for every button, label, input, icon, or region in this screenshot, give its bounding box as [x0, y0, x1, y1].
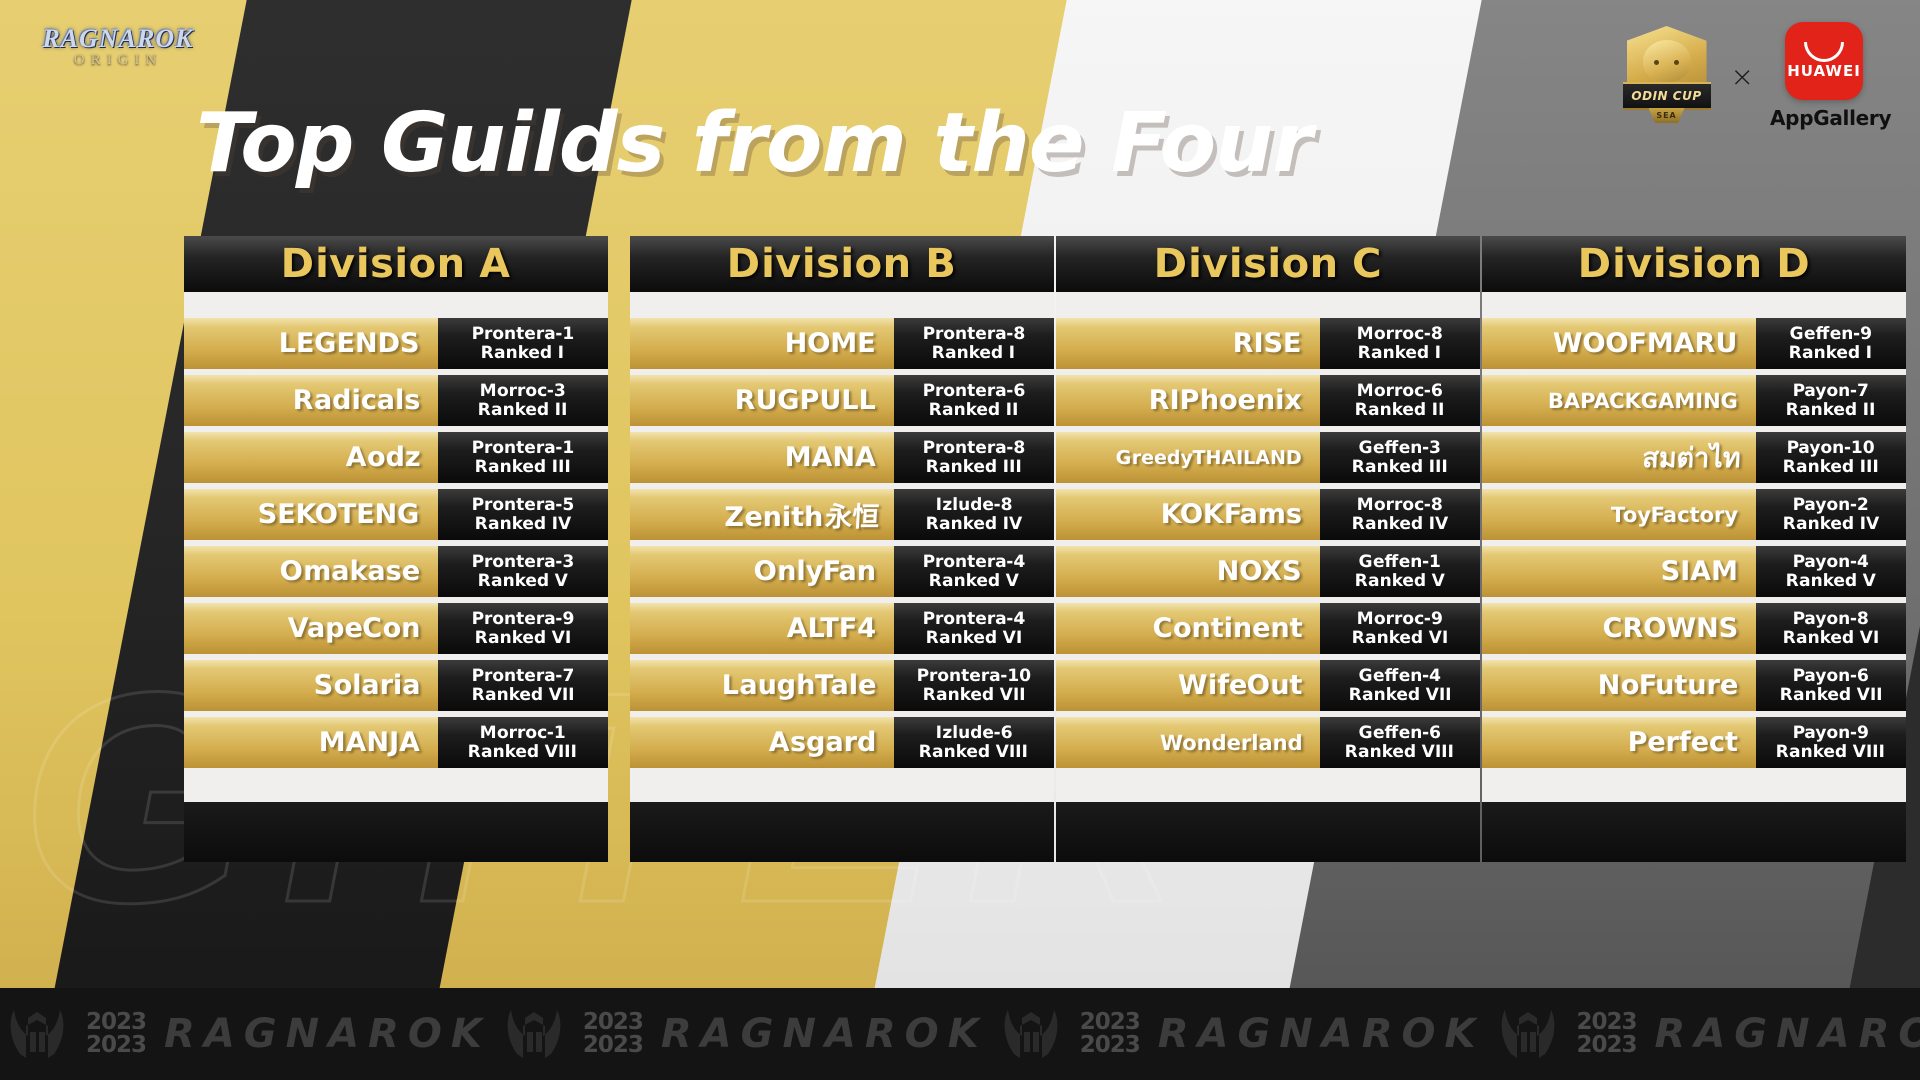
guild-name-label: ALTF4 — [784, 613, 879, 644]
guild-row: MANJAMorroc-1Ranked VIII — [184, 717, 608, 768]
guild-row: NoFuturePayon-6Ranked VII — [1482, 660, 1906, 711]
guild-name-label: NoFuture — [1595, 670, 1741, 701]
guild-row: LEGENDSProntera-1Ranked I — [184, 318, 608, 369]
guild-name-label: Aodz — [342, 442, 423, 473]
guild-rank-label: Ranked I — [931, 344, 1018, 362]
divisions-container: Division A LEGENDSProntera-1Ranked IRadi… — [0, 236, 1920, 886]
division-c-tail — [1056, 802, 1480, 862]
guild-name-label: WOOFMARU — [1550, 328, 1741, 359]
guild-row: AsgardIzlude-6Ranked VIII — [630, 717, 1054, 768]
guild-server-label: Payon-4 — [1791, 553, 1871, 571]
guild-rank-label: Ranked VIII — [1344, 743, 1457, 761]
footer-unit: 20232023RAGNAROK — [497, 1006, 994, 1062]
guild-name-label: Asgard — [766, 727, 879, 758]
footer-years: 20232023 — [86, 1011, 146, 1057]
guild-name-label: RIPhoenix — [1146, 385, 1305, 416]
guild-rank-label: Ranked VII — [1778, 686, 1884, 704]
guild-name-label: OnlyFan — [751, 556, 879, 587]
guild-server-label: Morroc-6 — [1355, 382, 1445, 400]
guild-info-cell: Payon-9Ranked VIII — [1756, 717, 1906, 768]
guild-rank-label: Ranked III — [473, 458, 573, 476]
guild-rank-label: Ranked II — [1353, 401, 1446, 419]
footer-wordmark: RAGNAROK — [164, 1011, 491, 1057]
guild-row: AodzProntera-1Ranked III — [184, 432, 608, 483]
guild-server-label: Prontera-8 — [921, 325, 1027, 343]
guild-name-label: Continent — [1150, 613, 1305, 644]
guild-row: RISEMorroc-8Ranked I — [1056, 318, 1480, 369]
guild-row: WOOFMARUGeffen-9Ranked I — [1482, 318, 1906, 369]
guild-server-label: Payon-7 — [1791, 382, 1871, 400]
appgallery-label: AppGallery — [1770, 106, 1878, 130]
guild-rank-label: Ranked I — [1357, 344, 1444, 362]
guild-info-cell: Prontera-8Ranked I — [894, 318, 1054, 369]
footer-wordmark: RAGNAROK — [1655, 1011, 1920, 1057]
guild-row: WifeOutGeffen-4Ranked VII — [1056, 660, 1480, 711]
guild-server-label: Payon-8 — [1791, 610, 1871, 628]
guild-server-label: Prontera-7 — [470, 667, 576, 685]
ragnarok-helmet-icon — [1000, 1006, 1062, 1062]
guild-server-label: Geffen-1 — [1357, 553, 1443, 571]
guild-name-cell: ToyFactory — [1482, 489, 1756, 540]
division-a-rows: LEGENDSProntera-1Ranked IRadicalsMorroc-… — [184, 318, 608, 768]
guild-name-label: GreedyTHAILAND — [1114, 447, 1304, 469]
guild-info-cell: Geffen-1Ranked V — [1320, 546, 1480, 597]
guild-rank-label: Ranked II — [476, 401, 569, 419]
guild-rank-label: Ranked VIII — [467, 743, 580, 761]
footer-year-top: 2023 — [1080, 1011, 1140, 1034]
division-d-header: Division D — [1482, 236, 1906, 292]
guild-name-cell: WOOFMARU — [1482, 318, 1756, 369]
guild-server-label: Prontera-5 — [470, 496, 576, 514]
guild-name-cell: MANA — [630, 432, 894, 483]
guild-rank-label: Ranked VI — [1781, 629, 1881, 647]
guild-row: MANAProntera-8Ranked III — [630, 432, 1054, 483]
division-c-inner: Division C RISEMorroc-8Ranked IRIPhoenix… — [1056, 236, 1480, 862]
guild-info-cell: Prontera-5Ranked IV — [438, 489, 608, 540]
guild-row: SIAMPayon-4Ranked V — [1482, 546, 1906, 597]
guild-name-label: MANJA — [316, 727, 423, 758]
division-c-rows: RISEMorroc-8Ranked IRIPhoenixMorroc-6Ran… — [1056, 318, 1480, 768]
guild-info-cell: Prontera-4Ranked VI — [894, 603, 1054, 654]
page-title: Top Guilds from the Four — [196, 96, 1312, 191]
division-d-title: Division D — [1573, 241, 1814, 287]
guild-rank-label: Ranked VI — [924, 629, 1024, 647]
guild-server-label: Morroc-8 — [1355, 496, 1445, 514]
guild-name-label: WifeOut — [1175, 670, 1305, 701]
guild-info-cell: Geffen-3Ranked III — [1320, 432, 1480, 483]
guild-name-cell: SEKOTENG — [184, 489, 438, 540]
guild-info-cell: Prontera-1Ranked I — [438, 318, 608, 369]
footer-unit: 20232023RAGNAROK — [1491, 1006, 1920, 1062]
guild-row: VapeConProntera-9Ranked VI — [184, 603, 608, 654]
guild-row: ContinentMorroc-9Ranked VI — [1056, 603, 1480, 654]
guild-server-label: Morroc-1 — [478, 724, 568, 742]
division-b-top-pad — [630, 292, 1054, 318]
footer-wordmark: RAGNAROK — [661, 1011, 988, 1057]
division-d-rows: WOOFMARUGeffen-9Ranked IBAPACKGAMINGPayo… — [1482, 318, 1906, 768]
huawei-appgallery-logo: HUAWEI AppGallery — [1770, 22, 1878, 130]
guild-row: RIPhoenixMorroc-6Ranked II — [1056, 375, 1480, 426]
guild-info-cell: Morroc-3Ranked II — [438, 375, 608, 426]
guild-row: ALTF4Prontera-4Ranked VI — [630, 603, 1054, 654]
guild-name-cell: RISE — [1056, 318, 1320, 369]
guild-server-label: Geffen-3 — [1357, 439, 1443, 457]
guild-name-cell: Asgard — [630, 717, 894, 768]
footer-year-bottom: 2023 — [1080, 1034, 1140, 1057]
guild-name-cell: Perfect — [1482, 717, 1756, 768]
guild-rank-label: Ranked IV — [1781, 515, 1881, 533]
guild-rank-label: Ranked VII — [470, 686, 576, 704]
guild-name-label: SIAM — [1658, 556, 1741, 587]
guild-server-label: Payon-2 — [1791, 496, 1871, 514]
guild-rank-label: Ranked VII — [1347, 686, 1453, 704]
guild-name-label: LEGENDS — [276, 328, 423, 359]
guild-name-cell: Radicals — [184, 375, 438, 426]
guild-name-cell: KOKFams — [1056, 489, 1320, 540]
odin-cup-logo: ODIN CUP SEA — [1619, 20, 1715, 132]
guild-name-label: HOME — [782, 328, 879, 359]
guild-rank-label: Ranked III — [924, 458, 1024, 476]
division-b-title: Division B — [723, 241, 962, 287]
guild-row: Zenith永恒Izlude-8Ranked IV — [630, 489, 1054, 540]
division-a-inner: Division A LEGENDSProntera-1Ranked IRadi… — [184, 236, 608, 862]
guild-rank-label: Ranked V — [1784, 572, 1878, 590]
guild-server-label: Izlude-8 — [934, 496, 1014, 514]
guild-row: สมต่าไทPayon-10Ranked III — [1482, 432, 1906, 483]
guild-info-cell: Payon-8Ranked VI — [1756, 603, 1906, 654]
guild-rank-label: Ranked I — [480, 344, 567, 362]
guild-name-label: BAPACKGAMING — [1546, 389, 1741, 413]
guild-info-cell: Payon-4Ranked V — [1756, 546, 1906, 597]
guild-info-cell: Morroc-8Ranked I — [1320, 318, 1480, 369]
guild-name-label: สมต่าไท — [1635, 436, 1742, 479]
guild-server-label: Prontera-8 — [921, 439, 1027, 457]
guild-row: NOXSGeffen-1Ranked V — [1056, 546, 1480, 597]
guild-server-label: Prontera-4 — [921, 610, 1027, 628]
division-column-d: Division D WOOFMARUGeffen-9Ranked IBAPAC… — [1421, 236, 1920, 862]
guild-rank-label: Ranked IV — [1350, 515, 1450, 533]
ragnarok-helmet-icon — [1497, 1006, 1559, 1062]
guild-info-cell: Prontera-7Ranked VII — [438, 660, 608, 711]
guild-info-cell: Izlude-8Ranked IV — [894, 489, 1054, 540]
guild-row: RadicalsMorroc-3Ranked II — [184, 375, 608, 426]
division-c-header: Division C — [1056, 236, 1480, 292]
guild-rank-label: Ranked V — [927, 572, 1021, 590]
division-d-top-pad — [1482, 292, 1906, 318]
guild-server-label: Izlude-6 — [934, 724, 1014, 742]
guild-name-label: RUGPULL — [732, 385, 879, 416]
guild-name-cell: GreedyTHAILAND — [1056, 432, 1320, 483]
ragnarok-origin-logo: RAGNAROK ORIGIN — [38, 24, 198, 69]
footer-years: 20232023 — [1080, 1011, 1140, 1057]
footer-years: 20232023 — [1577, 1011, 1637, 1057]
guild-name-label: Zenith永恒 — [720, 495, 880, 534]
guild-name-label: ToyFactory — [1609, 503, 1740, 527]
division-c-title: Division C — [1149, 241, 1386, 287]
division-b-bottom-pad — [630, 768, 1054, 802]
guild-server-label: Morroc-3 — [478, 382, 568, 400]
odin-cup-label: ODIN CUP — [1631, 89, 1701, 103]
guild-row: BAPACKGAMINGPayon-7Ranked II — [1482, 375, 1906, 426]
guild-name-label: NOXS — [1214, 556, 1305, 587]
cup-region-ribbon: SEA — [1649, 108, 1685, 123]
partner-logos: ODIN CUP SEA × HUAWEI AppGallery — [1619, 20, 1878, 132]
footer-year-bottom: 2023 — [1577, 1034, 1637, 1057]
footer-branding-strip: 20232023RAGNAROK20232023RAGNAROK20232023… — [0, 988, 1920, 1080]
guild-server-label: Payon-10 — [1785, 439, 1876, 457]
guild-name-cell: MANJA — [184, 717, 438, 768]
huawei-label: HUAWEI — [1785, 62, 1863, 80]
guild-name-cell: Wonderland — [1056, 717, 1320, 768]
guild-info-cell: Morroc-9Ranked VI — [1320, 603, 1480, 654]
guild-name-label: Wonderland — [1157, 731, 1304, 755]
division-d-tail — [1482, 802, 1906, 862]
guild-name-cell: ALTF4 — [630, 603, 894, 654]
collab-x-icon: × — [1731, 60, 1754, 93]
guild-name-cell: NOXS — [1056, 546, 1320, 597]
guild-server-label: Morroc-9 — [1355, 610, 1445, 628]
guild-row: ToyFactoryPayon-2Ranked IV — [1482, 489, 1906, 540]
guild-name-label: VapeCon — [285, 613, 423, 644]
guild-row: OmakaseProntera-3Ranked V — [184, 546, 608, 597]
smile-icon — [1804, 42, 1844, 62]
guild-name-label: CROWNS — [1600, 613, 1741, 644]
guild-row: PerfectPayon-9Ranked VIII — [1482, 717, 1906, 768]
footer-unit: 20232023RAGNAROK — [994, 1006, 1491, 1062]
ragnarok-wordmark: RAGNAROK — [38, 24, 198, 54]
guild-info-cell: Payon-2Ranked IV — [1756, 489, 1906, 540]
guild-rank-label: Ranked VIII — [1775, 743, 1888, 761]
guild-rank-label: Ranked IV — [473, 515, 573, 533]
guild-name-label: Solaria — [311, 670, 423, 701]
guild-name-label: Radicals — [290, 385, 423, 416]
appgallery-app-icon: HUAWEI — [1785, 22, 1863, 100]
guild-name-label: RISE — [1230, 328, 1305, 359]
division-a-header: Division A — [184, 236, 608, 292]
guild-name-cell: LEGENDS — [184, 318, 438, 369]
guild-info-cell: Payon-7Ranked II — [1756, 375, 1906, 426]
guild-rank-label: Ranked III — [1781, 458, 1881, 476]
guild-server-label: Prontera-1 — [470, 439, 576, 457]
guild-server-label: Prontera-9 — [470, 610, 576, 628]
guild-rank-label: Ranked II — [1784, 401, 1877, 419]
division-d-bottom-pad — [1482, 768, 1906, 802]
division-b-rows: HOMEProntera-8Ranked IRUGPULLProntera-6R… — [630, 318, 1054, 768]
guild-row: KOKFamsMorroc-8Ranked IV — [1056, 489, 1480, 540]
guild-server-label: Prontera-6 — [921, 382, 1027, 400]
division-b-tail — [630, 802, 1054, 862]
guild-name-cell: WifeOut — [1056, 660, 1320, 711]
guild-name-cell: BAPACKGAMING — [1482, 375, 1756, 426]
guild-info-cell: Payon-6Ranked VII — [1756, 660, 1906, 711]
division-a-top-pad — [184, 292, 608, 318]
guild-info-cell: Morroc-6Ranked II — [1320, 375, 1480, 426]
eye-icon-right — [1674, 60, 1679, 65]
guild-rank-label: Ranked III — [1350, 458, 1450, 476]
guild-name-cell: NoFuture — [1482, 660, 1756, 711]
footer-year-bottom: 2023 — [86, 1034, 146, 1057]
guild-server-label: Morroc-8 — [1355, 325, 1445, 343]
guild-name-cell: SIAM — [1482, 546, 1756, 597]
guild-info-cell: Morroc-1Ranked VIII — [438, 717, 608, 768]
guild-server-label: Payon-6 — [1791, 667, 1871, 685]
guild-name-label: SEKOTENG — [255, 499, 423, 530]
division-c-bottom-pad — [1056, 768, 1480, 802]
guild-row: GreedyTHAILANDGeffen-3Ranked III — [1056, 432, 1480, 483]
guild-server-label: Payon-9 — [1791, 724, 1871, 742]
footer-year-top: 2023 — [1577, 1011, 1637, 1034]
guild-info-cell: Prontera-9Ranked VI — [438, 603, 608, 654]
origin-wordmark: ORIGIN — [38, 52, 198, 69]
guild-name-cell: RUGPULL — [630, 375, 894, 426]
cup-region-label: SEA — [1656, 111, 1676, 120]
guild-name-cell: VapeCon — [184, 603, 438, 654]
guild-row: SolariaProntera-7Ranked VII — [184, 660, 608, 711]
footer-wordmark: RAGNAROK — [1158, 1011, 1485, 1057]
guild-name-label: Perfect — [1625, 727, 1741, 758]
guild-row: LaughTaleProntera-10Ranked VII — [630, 660, 1054, 711]
division-b-header: Division B — [630, 236, 1054, 292]
guild-name-label: Omakase — [277, 556, 423, 587]
guild-name-label: LaughTale — [719, 670, 879, 701]
guild-rank-label: Ranked VI — [473, 629, 573, 647]
guild-name-cell: Aodz — [184, 432, 438, 483]
guild-name-cell: OnlyFan — [630, 546, 894, 597]
guild-name-label: MANA — [782, 442, 879, 473]
guild-name-cell: Continent — [1056, 603, 1320, 654]
footer-year-top: 2023 — [86, 1011, 146, 1034]
guild-server-label: Geffen-6 — [1357, 724, 1443, 742]
guild-server-label: Prontera-1 — [470, 325, 576, 343]
guild-server-label: Prontera-10 — [915, 667, 1033, 685]
guild-rank-label: Ranked I — [1788, 344, 1875, 362]
guild-server-label: Geffen-4 — [1357, 667, 1443, 685]
footer-years: 20232023 — [583, 1011, 643, 1057]
odin-cup-banner: ODIN CUP — [1623, 82, 1711, 110]
guild-row: HOMEProntera-8Ranked I — [630, 318, 1054, 369]
poring-face-icon — [1643, 40, 1691, 82]
division-b-inner: Division B HOMEProntera-8Ranked IRUGPULL… — [630, 236, 1054, 862]
guild-rank-label: Ranked VII — [921, 686, 1027, 704]
guild-info-cell: Payon-10Ranked III — [1756, 432, 1906, 483]
ragnarok-helmet-icon — [6, 1006, 68, 1062]
guild-row: SEKOTENGProntera-5Ranked IV — [184, 489, 608, 540]
guild-info-cell: Prontera-1Ranked III — [438, 432, 608, 483]
footer-unit: 20232023RAGNAROK — [0, 1006, 497, 1062]
division-a-tail — [184, 802, 608, 862]
guild-name-cell: RIPhoenix — [1056, 375, 1320, 426]
guild-name-label: KOKFams — [1158, 499, 1305, 530]
guild-name-cell: HOME — [630, 318, 894, 369]
eye-icon-left — [1654, 60, 1659, 65]
guild-rank-label: Ranked V — [476, 572, 570, 590]
guild-name-cell: CROWNS — [1482, 603, 1756, 654]
guild-info-cell: Morroc-8Ranked IV — [1320, 489, 1480, 540]
guild-server-label: Prontera-4 — [921, 553, 1027, 571]
division-c-top-pad — [1056, 292, 1480, 318]
guild-server-label: Geffen-9 — [1788, 325, 1874, 343]
guild-name-cell: สมต่าไท — [1482, 432, 1756, 483]
guild-row: CROWNSPayon-8Ranked VI — [1482, 603, 1906, 654]
division-a-bottom-pad — [184, 768, 608, 802]
guild-info-cell: Geffen-9Ranked I — [1756, 318, 1906, 369]
guild-rank-label: Ranked VI — [1350, 629, 1450, 647]
guild-info-cell: Prontera-4Ranked V — [894, 546, 1054, 597]
guild-name-cell: Zenith永恒 — [630, 489, 894, 540]
guild-name-cell: Omakase — [184, 546, 438, 597]
guild-rank-label: Ranked V — [1353, 572, 1447, 590]
guild-name-cell: Solaria — [184, 660, 438, 711]
footer-year-bottom: 2023 — [583, 1034, 643, 1057]
guild-info-cell: Prontera-8Ranked III — [894, 432, 1054, 483]
guild-info-cell: Prontera-6Ranked II — [894, 375, 1054, 426]
guild-name-cell: LaughTale — [630, 660, 894, 711]
ragnarok-helmet-icon — [503, 1006, 565, 1062]
guild-rank-label: Ranked II — [927, 401, 1020, 419]
division-d-inner: Division D WOOFMARUGeffen-9Ranked IBAPAC… — [1482, 236, 1906, 862]
guild-row: OnlyFanProntera-4Ranked V — [630, 546, 1054, 597]
footer-year-top: 2023 — [583, 1011, 643, 1034]
guild-rank-label: Ranked IV — [924, 515, 1024, 533]
guild-rank-label: Ranked VIII — [918, 743, 1031, 761]
guild-row: RUGPULLProntera-6Ranked II — [630, 375, 1054, 426]
guild-info-cell: Prontera-3Ranked V — [438, 546, 608, 597]
guild-row: WonderlandGeffen-6Ranked VIII — [1056, 717, 1480, 768]
infographic-canvas: GHTER RAGNAROK ORIGIN ODIN CUP SEA × HUA… — [0, 0, 1920, 1080]
division-a-title: Division A — [276, 241, 515, 287]
guild-server-label: Prontera-3 — [470, 553, 576, 571]
